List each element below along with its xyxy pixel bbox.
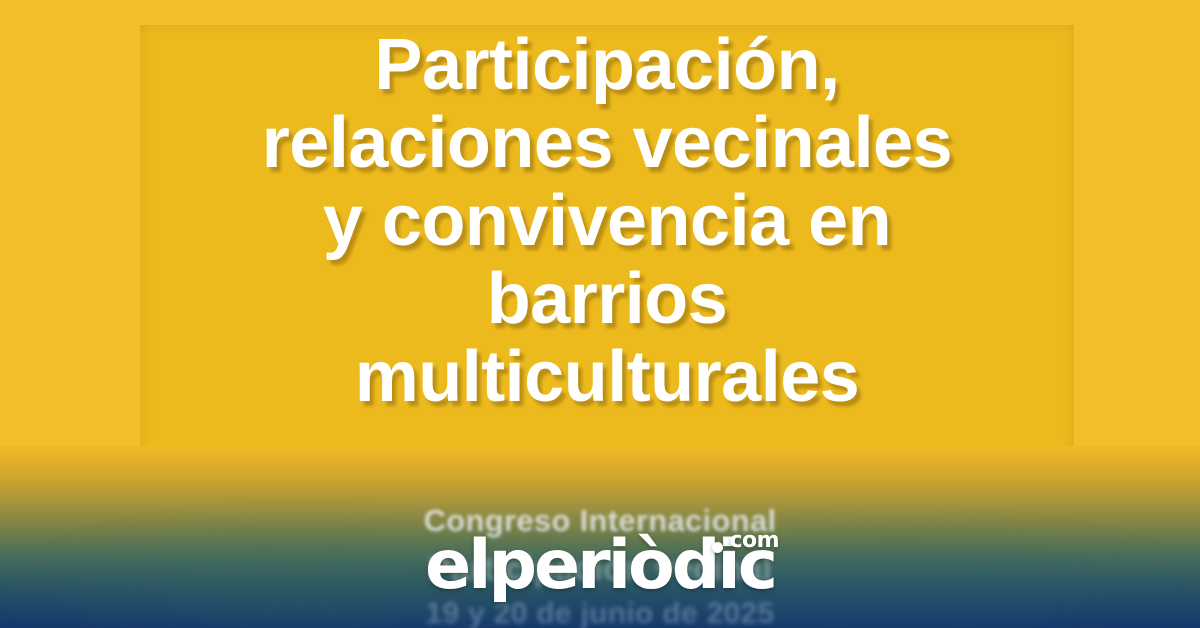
- title-line-2: relaciones vecinales: [140, 104, 1074, 182]
- event-type-label: Congreso Internacional: [0, 503, 1200, 539]
- event-subtitle-obscured: Participación vecinal: [0, 550, 1200, 589]
- promo-banner: Participación, relaciones vecinales y co…: [0, 0, 1200, 628]
- title-line-5: multiculturales: [140, 338, 1074, 416]
- title-line-3: y convivencia en: [140, 182, 1074, 260]
- title-line-1: Participación,: [140, 26, 1074, 104]
- page-title: Participación, relaciones vecinales y co…: [140, 26, 1074, 416]
- title-line-4: barrios: [140, 260, 1074, 338]
- event-dates: 19 y 20 de junio de 2025: [0, 597, 1200, 628]
